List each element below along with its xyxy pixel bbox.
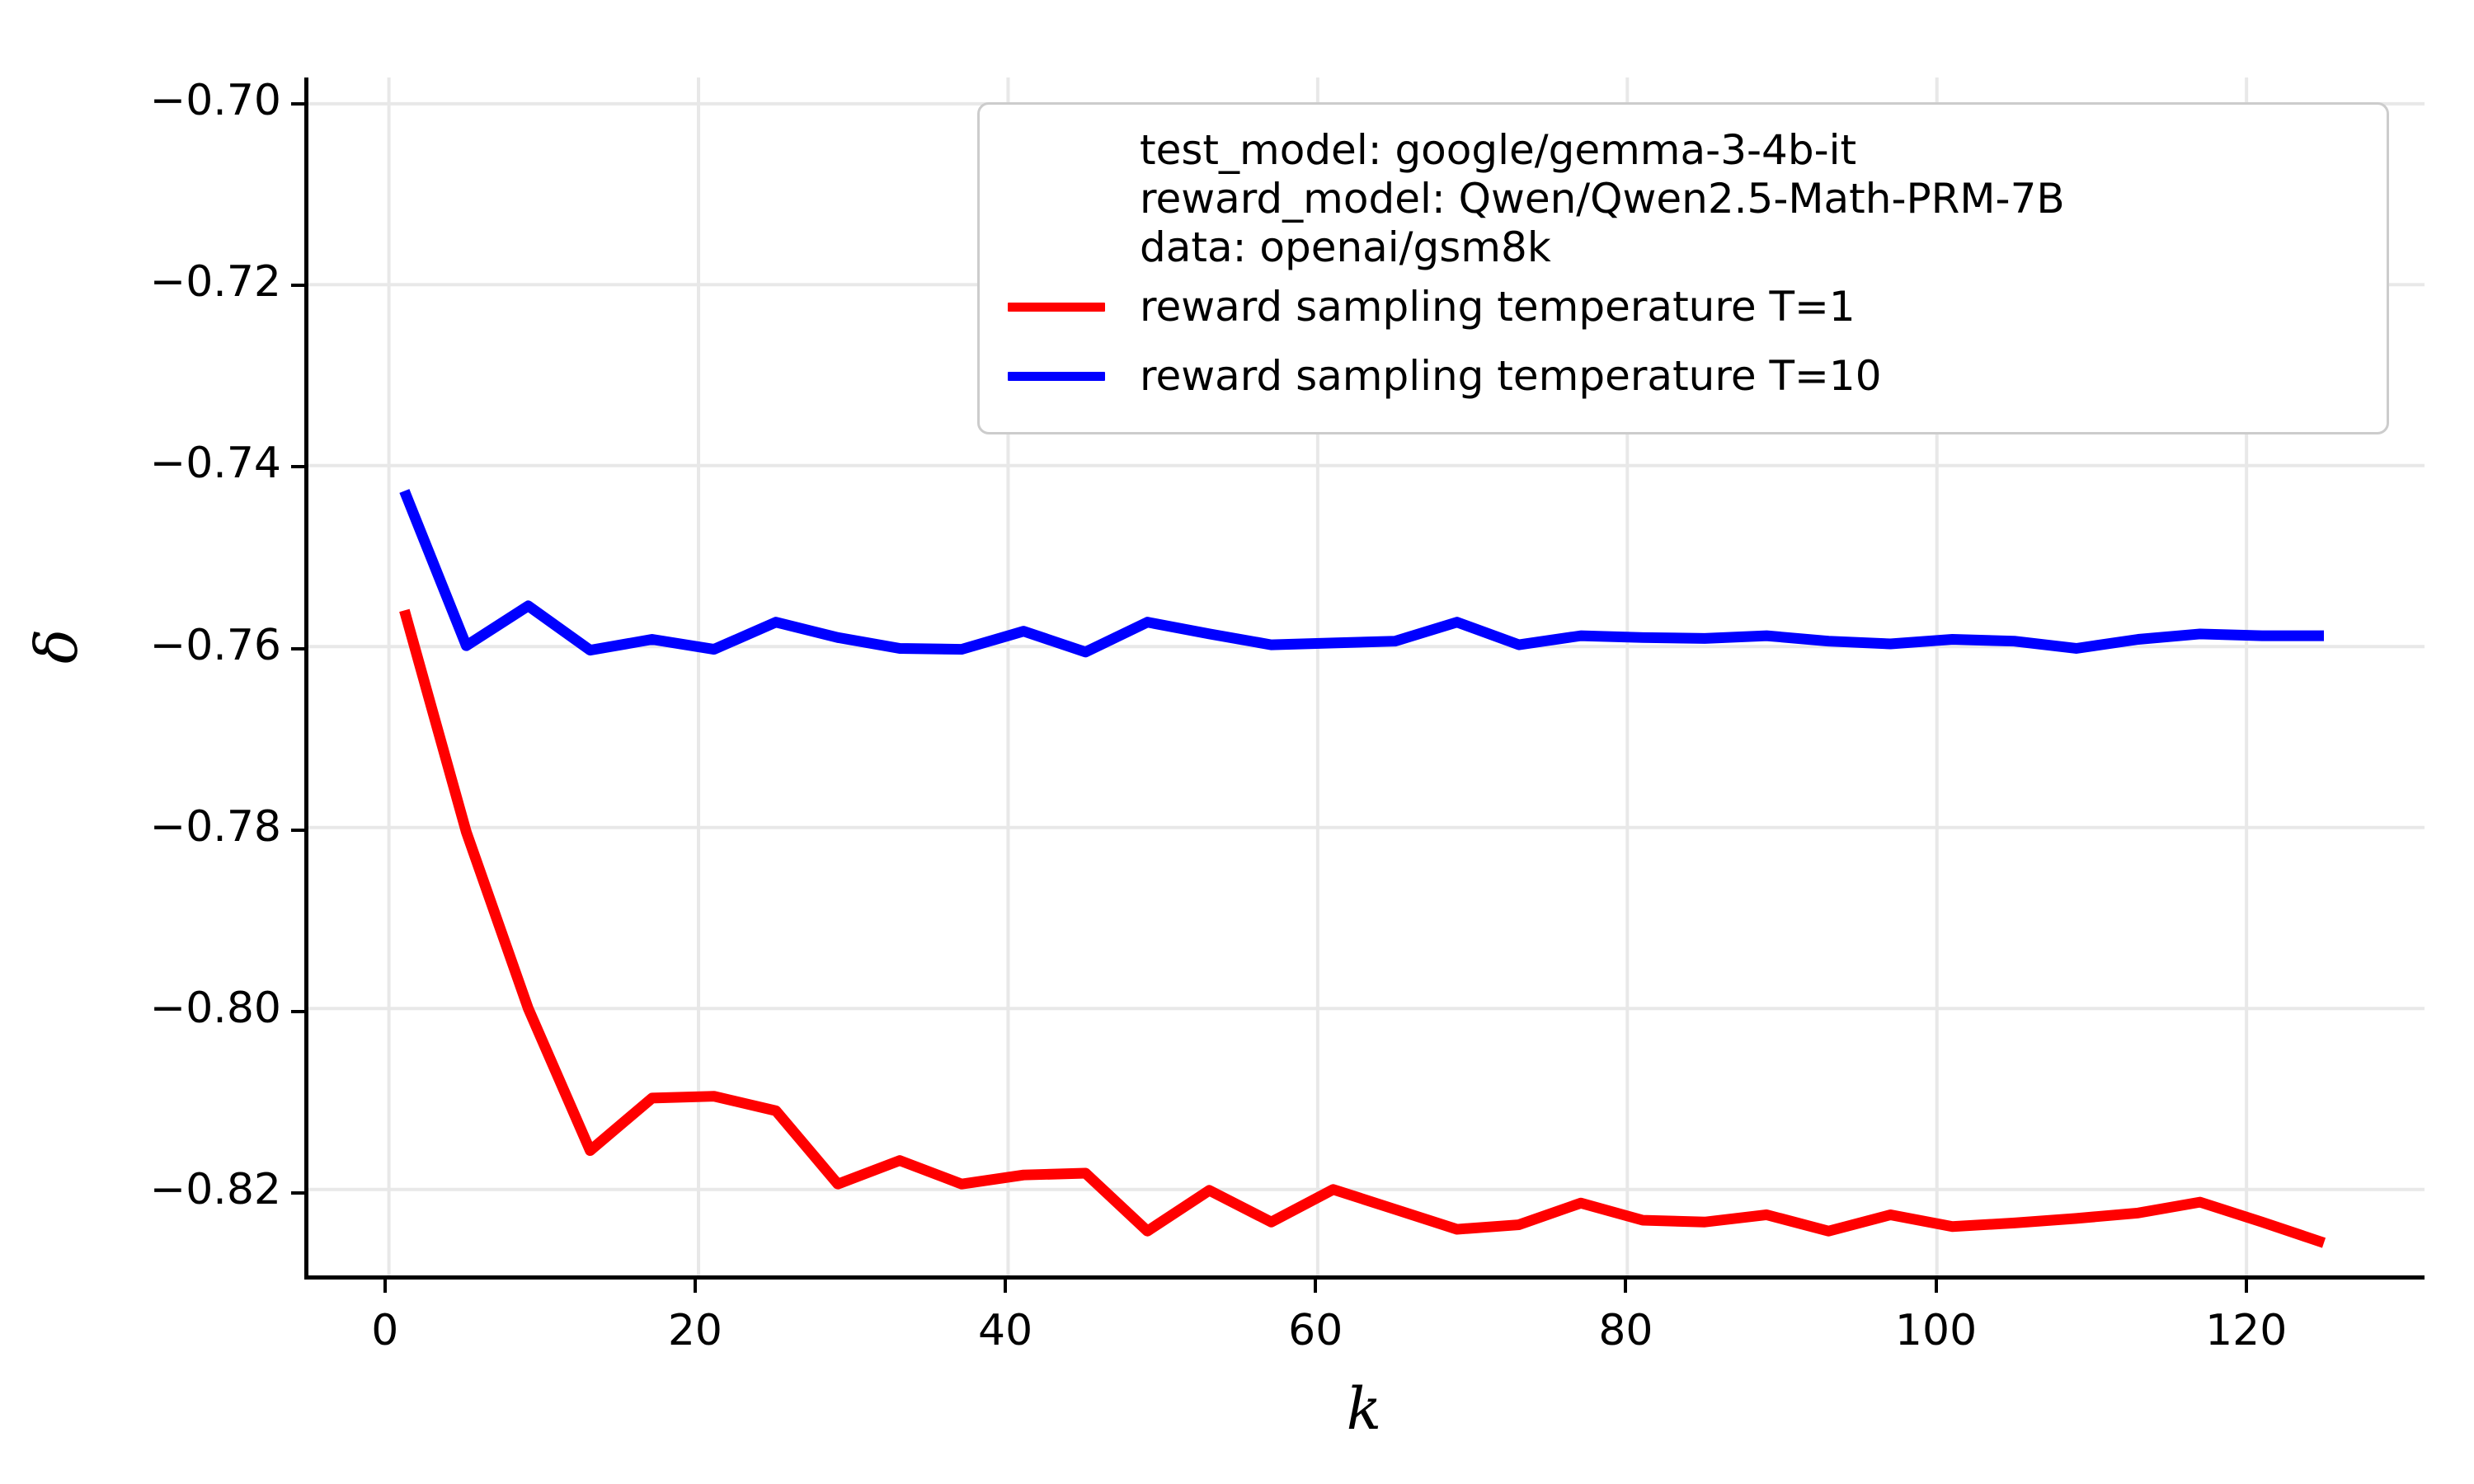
x-tick-label: 40 <box>978 1309 1032 1352</box>
x-axis-label: k <box>1347 1375 1381 1443</box>
legend-label-t1: reward sampling temperature T=1 <box>1140 286 1855 327</box>
y-tick-mark <box>291 647 304 650</box>
y-tick-mark <box>291 102 304 106</box>
y-tick-mark <box>291 1010 304 1013</box>
y-tick-label: −0.74 <box>0 442 281 485</box>
legend-label-t10: reward sampling temperature T=10 <box>1140 355 1882 397</box>
y-tick-mark <box>291 284 304 287</box>
y-tick-label: −0.80 <box>0 987 281 1030</box>
x-tick-mark <box>1624 1280 1627 1293</box>
y-tick-label: −0.76 <box>0 624 281 667</box>
x-tick-mark <box>1314 1280 1317 1293</box>
x-tick-label: 100 <box>1895 1309 1977 1352</box>
x-tick-label: 60 <box>1288 1309 1343 1352</box>
series-line-t1 <box>404 610 2324 1242</box>
x-tick-mark <box>694 1280 697 1293</box>
legend-swatch-t1 <box>1008 303 1105 312</box>
series-line-t10 <box>404 491 2324 652</box>
y-tick-label: −0.70 <box>0 79 281 122</box>
y-tick-mark <box>291 465 304 468</box>
chart-figure: δ k −0.70−0.72−0.74−0.76−0.78−0.80−0.82 … <box>0 0 2474 1484</box>
x-tick-mark <box>2245 1280 2248 1293</box>
legend-note-reward-model: reward_model: Qwen/Qwen2.5-Math-PRM-7B <box>1008 175 2359 223</box>
x-tick-mark <box>1004 1280 1007 1293</box>
legend-swatch-t10 <box>1008 372 1105 381</box>
legend-note-test-model: test_model: google/gemma-3-4b-it <box>1008 126 2359 175</box>
y-tick-mark <box>291 829 304 832</box>
x-tick-label: 20 <box>668 1309 722 1352</box>
legend: test_model: google/gemma-3-4b-it reward_… <box>977 102 2389 434</box>
y-tick-mark <box>291 1191 304 1195</box>
y-tick-label: −0.72 <box>0 261 281 303</box>
x-tick-label: 120 <box>2205 1309 2287 1352</box>
x-tick-label: 80 <box>1598 1309 1653 1352</box>
y-tick-label: −0.82 <box>0 1168 281 1211</box>
legend-entry-t1[interactable]: reward sampling temperature T=1 <box>1008 272 2359 341</box>
x-tick-mark <box>1935 1280 1938 1293</box>
y-tick-label: −0.78 <box>0 805 281 848</box>
x-tick-mark <box>383 1280 387 1293</box>
x-tick-label: 0 <box>371 1309 398 1352</box>
legend-entry-t10[interactable]: reward sampling temperature T=10 <box>1008 341 2359 411</box>
legend-note-data: data: openai/gsm8k <box>1008 223 2359 272</box>
